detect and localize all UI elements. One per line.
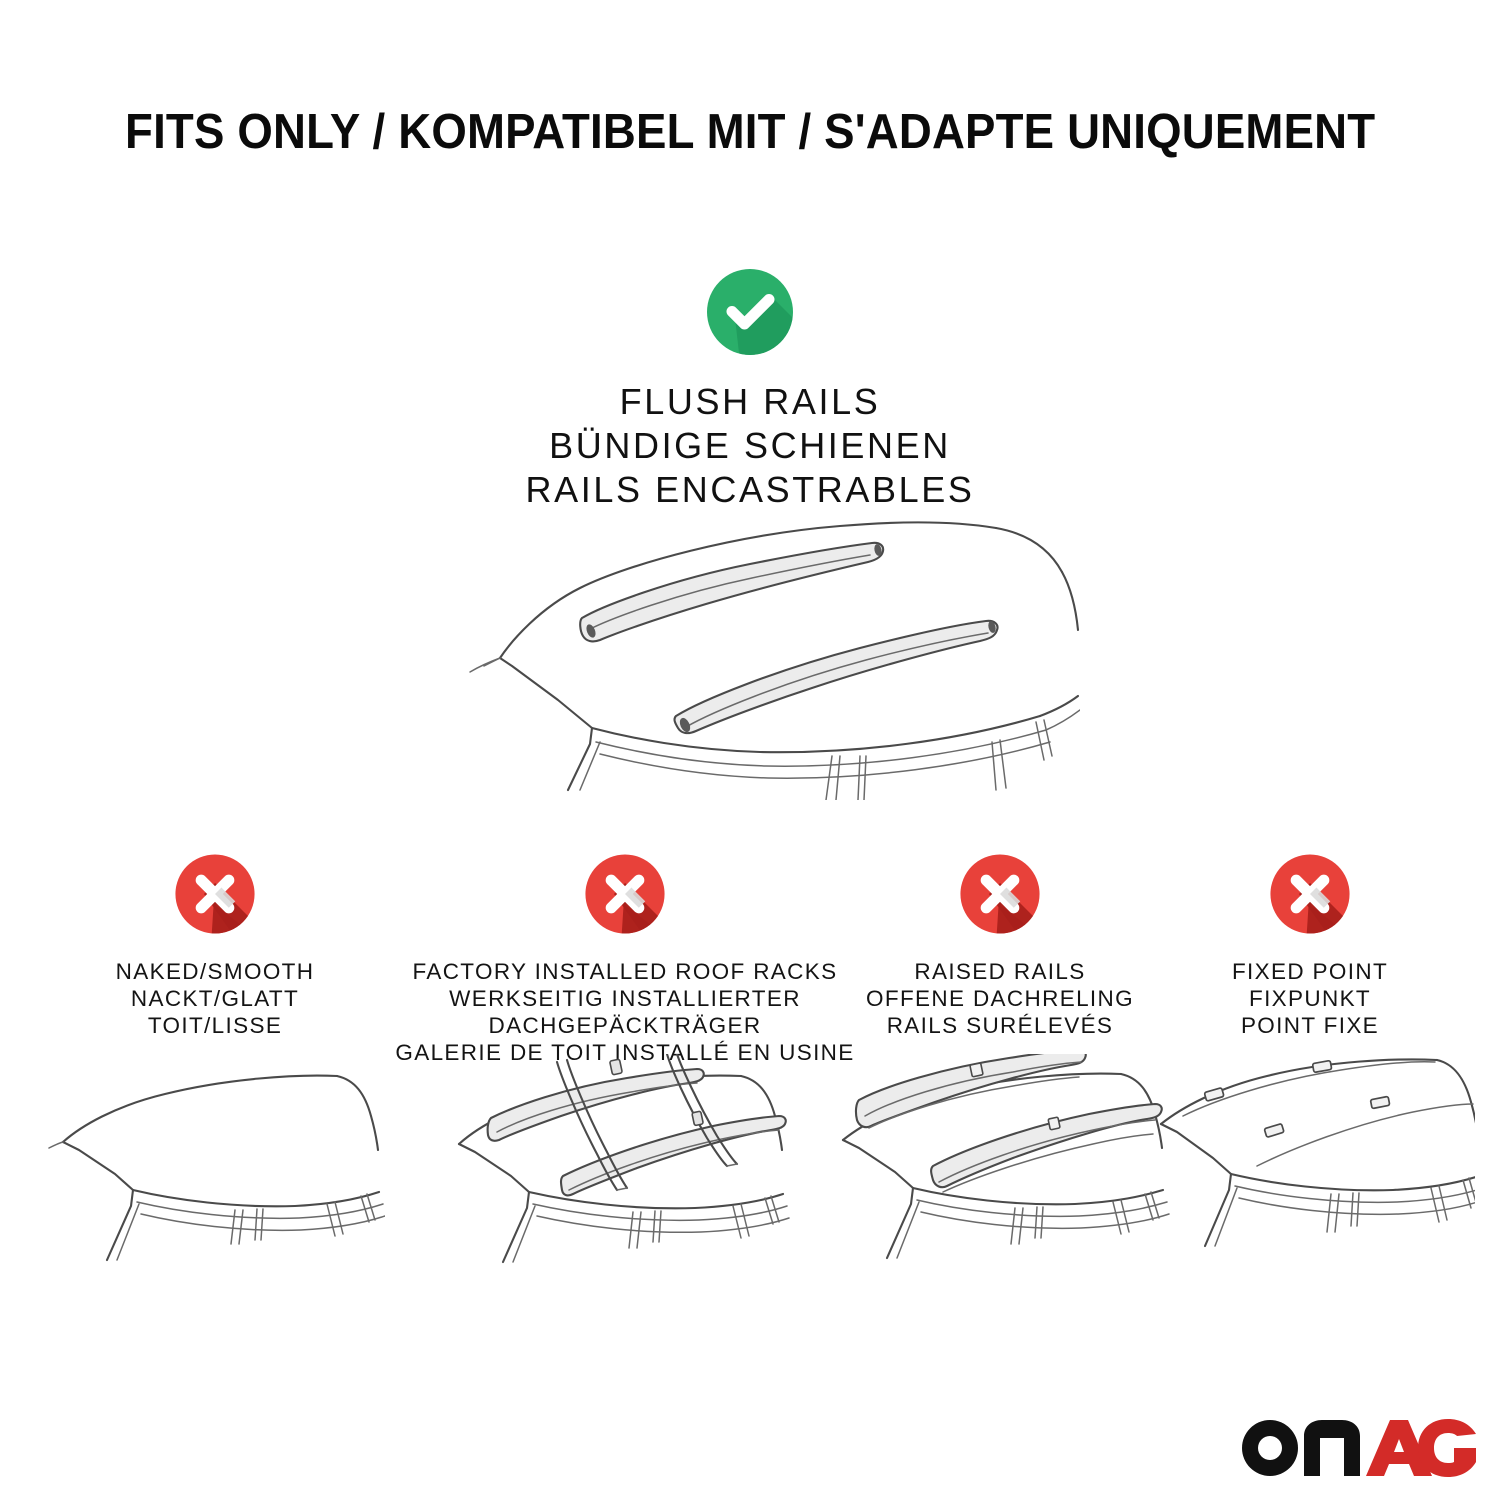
header: FITS ONLY / KOMPATIBEL MIT / S'ADAPTE UN… (0, 104, 1500, 160)
incompatible-item-fixed-point: FIXED POINT FIXPUNKT POINT FIXE (1150, 848, 1470, 1039)
cross-circle-icon (169, 848, 261, 940)
badge-wrap (40, 848, 390, 952)
cross-circle-icon (1264, 848, 1356, 940)
car-roof-bare-illustration (45, 1054, 385, 1274)
label-en: NAKED/SMOOTH (40, 958, 390, 985)
badge-wrap (832, 848, 1168, 952)
incompatible-section: NAKED/SMOOTH NACKT/GLATT TOIT/LISSE (0, 848, 1500, 1468)
logo-letter-o (1242, 1420, 1298, 1476)
compatible-label-en: FLUSH RAILS (0, 380, 1500, 424)
incompatible-item-factory-roof-racks: FACTORY INSTALLED ROOF RACKS WERKSEITIG … (390, 848, 860, 1066)
compatible-section: FLUSH RAILS BÜNDIGE SCHIENEN RAILS ENCAS… (0, 262, 1500, 512)
label-en: FACTORY INSTALLED ROOF RACKS (390, 958, 860, 985)
label-en: RAISED RAILS (832, 958, 1168, 985)
logo-letter-c (1418, 1419, 1476, 1477)
car-roof-raised-rails-illustration (825, 1054, 1175, 1274)
omac-logo (1238, 1408, 1478, 1480)
label-de: NACKT/GLATT (40, 985, 390, 1012)
label-fr: RAILS SURÉLEVÉS (832, 1012, 1168, 1039)
incompatible-labels: RAISED RAILS OFFENE DACHRELING RAILS SUR… (832, 958, 1168, 1039)
logo-letter-m (1304, 1420, 1360, 1476)
car-roof-flush-rails-illustration (440, 490, 1080, 800)
incompatible-labels: FIXED POINT FIXPUNKT POINT FIXE (1150, 958, 1470, 1039)
incompatible-labels: FACTORY INSTALLED ROOF RACKS WERKSEITIG … (390, 958, 860, 1066)
label-fr: TOIT/LISSE (40, 1012, 390, 1039)
label-de: OFFENE DACHRELING (832, 985, 1168, 1012)
incompatible-labels: NAKED/SMOOTH NACKT/GLATT TOIT/LISSE (40, 958, 390, 1039)
compatible-label-de: BÜNDIGE SCHIENEN (0, 424, 1500, 468)
badge-wrap (390, 848, 860, 952)
page-title: FITS ONLY / KOMPATIBEL MIT / S'ADAPTE UN… (125, 104, 1375, 160)
label-en: FIXED POINT (1150, 958, 1470, 985)
incompatible-item-naked-smooth: NAKED/SMOOTH NACKT/GLATT TOIT/LISSE (40, 848, 390, 1039)
cross-circle-icon (579, 848, 671, 940)
car-roof-factory-crossbars-illustration (445, 1054, 805, 1274)
incompatible-item-raised-rails: RAISED RAILS OFFENE DACHRELING RAILS SUR… (832, 848, 1168, 1039)
label-de-1: WERKSEITIG INSTALLIERTER (390, 985, 860, 1012)
badge-wrap (1150, 848, 1470, 952)
label-de-2: DACHGEPÄCKTRÄGER (390, 1012, 860, 1039)
check-circle-icon (700, 262, 800, 362)
cross-circle-icon (954, 848, 1046, 940)
car-roof-fixed-points-illustration (1145, 1054, 1475, 1274)
label-de: FIXPUNKT (1150, 985, 1470, 1012)
label-fr: POINT FIXE (1150, 1012, 1470, 1039)
